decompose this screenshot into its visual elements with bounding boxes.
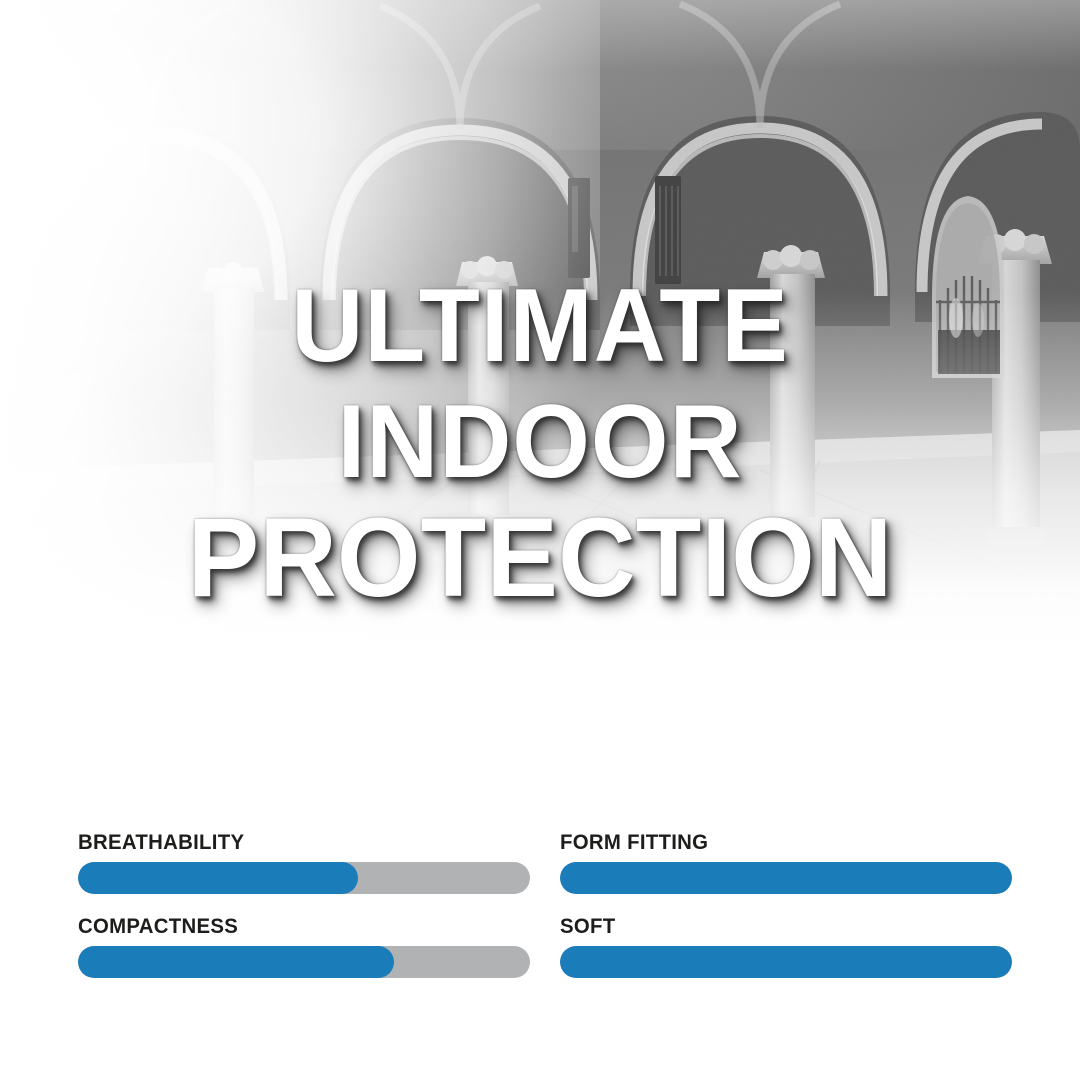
spec-bar-grid: BREATHABILITY FORM FITTING COMPACTNESS S… xyxy=(78,832,1012,978)
spec-soft: SOFT xyxy=(560,916,1012,978)
spec-track-compactness xyxy=(78,946,530,978)
spec-label-soft: SOFT xyxy=(560,916,998,938)
spec-label-compactness: COMPACTNESS xyxy=(78,916,516,938)
spec-breathability: BREATHABILITY xyxy=(78,832,530,894)
spec-track-breathability xyxy=(78,862,530,894)
product-feature-card: ULTIMATE INDOOR PROTECTION BREATHABILITY… xyxy=(0,0,1080,1080)
hero-background xyxy=(0,0,1080,760)
spec-fill-breathability xyxy=(78,862,358,894)
spec-compactness: COMPACTNESS xyxy=(78,916,530,978)
spec-track-form-fitting xyxy=(560,862,1012,894)
spec-fill-compactness xyxy=(78,946,394,978)
spec-fill-soft xyxy=(560,946,1012,978)
spec-track-soft xyxy=(560,946,1012,978)
spec-label-form-fitting: FORM FITTING xyxy=(560,832,998,854)
spec-label-breathability: BREATHABILITY xyxy=(78,832,516,854)
spec-form-fitting: FORM FITTING xyxy=(560,832,1012,894)
courtyard-photo xyxy=(0,0,1080,760)
spec-fill-form-fitting xyxy=(560,862,1012,894)
